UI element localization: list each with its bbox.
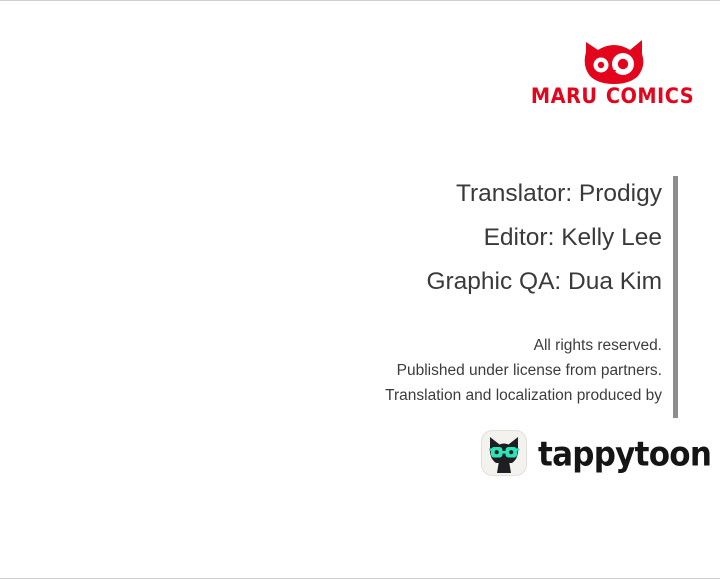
credit-line-graphic-qa: Graphic QA: Dua Kim [250, 260, 662, 304]
tappytoon-logo: tappytoon [481, 428, 676, 478]
fineprint-line-localization: Translation and localization produced by [230, 383, 662, 408]
maru-comics-wordmark: MARU COMICS [546, 84, 680, 108]
tappytoon-cat-icon [481, 430, 527, 476]
owl-icon [582, 36, 646, 84]
tappytoon-wordmark: tappytoon [538, 436, 711, 470]
fineprint-block: All rights reserved. Published under lic… [230, 333, 662, 408]
credits-list: Translator: Prodigy Editor: Kelly Lee Gr… [250, 172, 662, 304]
maru-word-right: COMICS [606, 86, 694, 107]
credits-divider-bar [673, 176, 678, 418]
page-top-edge-line [0, 0, 720, 1]
fineprint-line-license: Published under license from partners. [230, 358, 662, 383]
credit-line-editor: Editor: Kelly Lee [250, 216, 662, 260]
credit-line-translator: Translator: Prodigy [250, 172, 662, 216]
maru-word-left: MARU [531, 86, 598, 107]
maru-comics-logo: MARU COMICS [546, 36, 680, 112]
credits-page: MARU COMICS Translator: Prodigy Editor: … [0, 0, 720, 579]
fineprint-line-rights: All rights reserved. [230, 333, 662, 358]
